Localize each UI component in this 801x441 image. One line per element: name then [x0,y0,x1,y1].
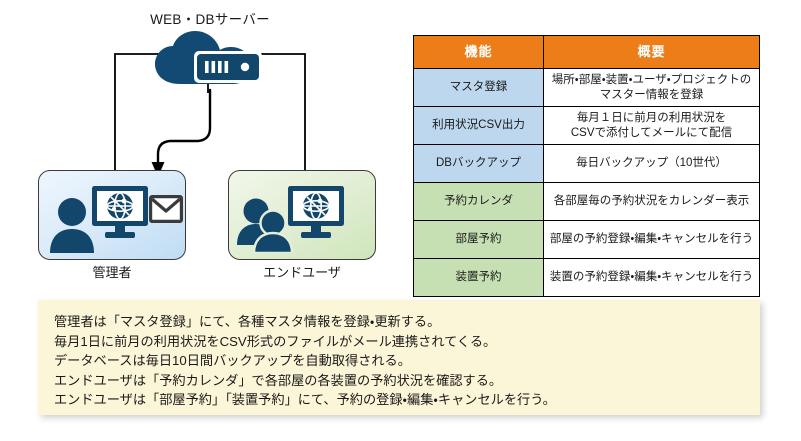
cell-feature: 装置予約 [414,259,544,297]
envelope-icon [149,195,183,223]
column-header-feature: 機能 [414,36,544,69]
monitor-globe-icon [287,185,345,240]
note-line: 管理者は「マスタ登録」にて、各種マスタ情報を登録・更新する。 [54,312,744,332]
table-row: 装置予約装置の予約登録・編集・キャンセルを行う [414,259,760,297]
cell-feature: 部屋予約 [414,221,544,259]
cell-feature: 利用状況CSV出力 [414,107,544,145]
cloud-server-icon [152,30,268,92]
note-line: エンドユーザは「予約カレンダ」で各部屋の各装置の予約状況を確認する。 [54,371,744,391]
actor-label-enduser: エンドユーザ [228,262,376,281]
monitor-globe-icon [91,185,149,240]
note-line: 毎月1日に前月の利用状況をCSV形式のファイルがメール連携されてくる。 [54,332,744,352]
table-row: 予約カレンダ各部屋毎の予約状況をカレンダー表示 [414,183,760,221]
actor-box-admin[interactable] [38,170,186,260]
note-line: エンドユーザは「部屋予約」「装置予約」にて、予約の登録・編集・キャンセルを行う。 [54,390,744,410]
actor-label-admin: 管理者 [38,262,186,281]
cell-feature: 予約カレンダ [414,183,544,221]
actor-box-enduser[interactable] [228,170,376,260]
note-line: データベースは毎日10日間バックアップを自動取得される。 [54,351,744,371]
note-box: 管理者は「マスタ登録」にて、各種マスタ情報を登録・更新する。毎月1日に前月の利用… [38,300,760,415]
table-row: 利用状況CSV出力毎月１日に前月の利用状況をCSVで添付してメールにて配信 [414,107,760,145]
table-row: 部屋予約部屋の予約登録・編集・キャンセルを行う [414,221,760,259]
feature-table: 機能 概要 マスタ登録場所・部屋・装置・ユーザ・プロジェクトのマスター情報を登録… [413,35,760,297]
architecture-diagram: WEB・DBサーバー [0,0,410,290]
cell-summary: 装置の予約登録・編集・キャンセルを行う [544,259,760,297]
cell-feature: DBバックアップ [414,145,544,183]
table-row: DBバックアップ毎日バックアップ（10世代） [414,145,760,183]
cell-summary: 毎月１日に前月の利用状況をCSVで添付してメールにて配信 [544,107,760,145]
column-header-summary: 概要 [544,36,760,69]
cell-summary: 毎日バックアップ（10世代） [544,145,760,183]
cell-summary: 部屋の予約登録・編集・キャンセルを行う [544,221,760,259]
table-header-row: 機能 概要 [414,36,760,69]
cell-feature: マスタ登録 [414,69,544,107]
cell-summary: 各部屋毎の予約状況をカレンダー表示 [544,183,760,221]
person-icon [49,197,95,253]
cell-summary: 場所・部屋・装置・ユーザ・プロジェクトのマスター情報を登録 [544,69,760,107]
table-row: マスタ登録場所・部屋・装置・ユーザ・プロジェクトのマスター情報を登録 [414,69,760,107]
